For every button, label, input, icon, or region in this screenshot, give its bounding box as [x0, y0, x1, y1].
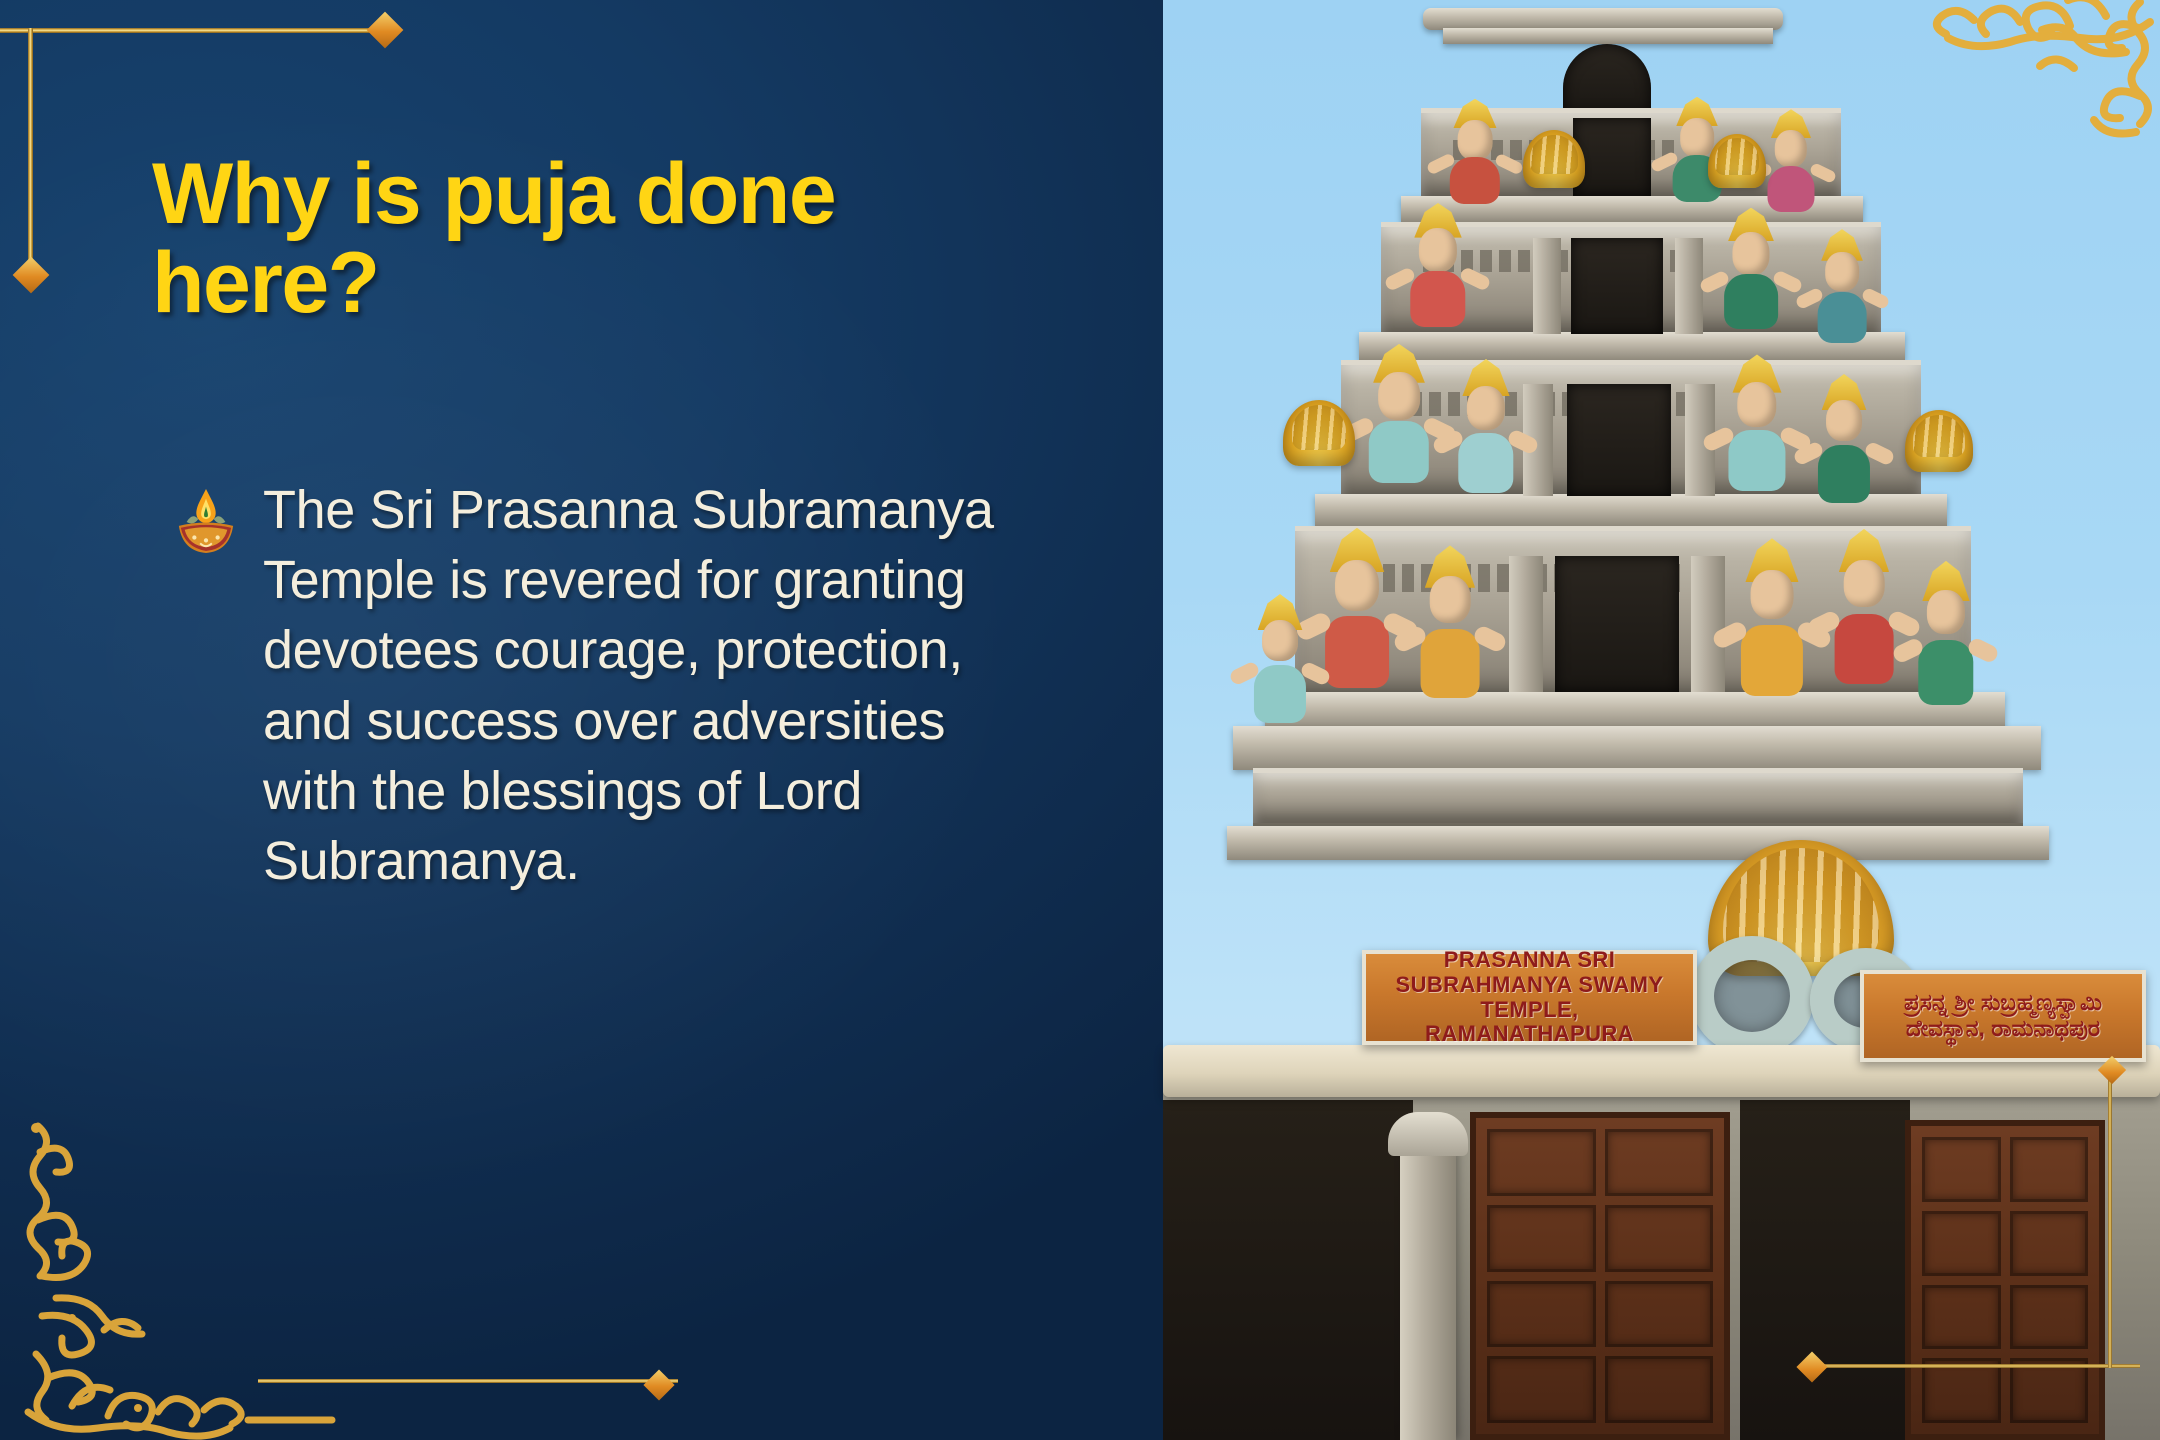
signboard-kannada: ಪ್ರಸನ್ನ ಶ್ರೀ ಸುಬ್ರಹ್ಮಣ್ಯಸ್ವಾಮಿ ದೇವಸ್ಥಾನ,… [1860, 970, 2146, 1062]
door-panel [1487, 1129, 1596, 1196]
top-left-horizontal-rule [0, 28, 385, 33]
door-panel [1922, 1137, 2001, 1202]
center-dark-doorway [1740, 1100, 1910, 1440]
temple-side-door [1905, 1120, 2105, 1440]
entrance-column-left [1400, 1150, 1456, 1440]
signboard-kannada-line2: ದೇವಸ್ಥಾನ, ರಾಮನಾಥಪುರ [1906, 1016, 2100, 1042]
door-panel [2010, 1211, 2089, 1276]
column-capital [1388, 1112, 1468, 1156]
door-panel [2010, 1137, 2089, 1202]
ornate-filigree-corner-icon [1840, 0, 2160, 322]
gold-diamond-terminal-icon [13, 257, 50, 294]
text-panel: Why is puja done here? [0, 0, 1163, 1440]
door-panel [1487, 1281, 1596, 1348]
body-paragraph: The Sri Prasanna Subramanya Temple is re… [263, 475, 1025, 896]
ornate-filigree-corner-icon [8, 1116, 338, 1440]
door-panel [1922, 1211, 2001, 1276]
door-panel [1605, 1356, 1714, 1423]
diya-lamp-icon [175, 487, 237, 555]
bottom-left-horizontal-rule [258, 1379, 678, 1383]
door-panel [1605, 1129, 1714, 1196]
signboard-english-line2: TEMPLE, RAMANATHAPURA [1374, 998, 1685, 1047]
page-title: Why is puja done here? [152, 150, 952, 327]
door-panel [1487, 1356, 1596, 1423]
bottom-right-horizontal-rule [1810, 1364, 2140, 1368]
door-panel [2010, 1285, 2089, 1350]
naga-coil-left [1690, 936, 1814, 1056]
gold-diamond-terminal-icon [367, 12, 404, 49]
gold-diamond-terminal-icon [643, 1369, 674, 1400]
signboard-english-line1: PRASANNA SRI SUBRAHMANYA SWAMY [1374, 948, 1685, 997]
door-panel [1922, 1285, 2001, 1350]
slide-canvas: Why is puja done here? [0, 0, 2160, 1440]
signboard-english: PRASANNA SRI SUBRAHMANYA SWAMY TEMPLE, R… [1362, 950, 1697, 1045]
temple-main-door [1470, 1112, 1730, 1440]
door-panel [1605, 1281, 1714, 1348]
left-dark-doorway [1163, 1100, 1413, 1440]
top-left-vertical-rule [28, 28, 33, 283]
door-panel [1605, 1205, 1714, 1272]
body-block: The Sri Prasanna Subramanya Temple is re… [175, 475, 1025, 896]
door-panel [1487, 1205, 1596, 1272]
signboard-kannada-line1: ಪ್ರಸನ್ನ ಶ್ರೀ ಸುಬ್ರಹ್ಮಣ್ಯಸ್ವಾಮಿ [1904, 990, 2102, 1016]
bottom-right-vertical-rule [2108, 1068, 2112, 1368]
